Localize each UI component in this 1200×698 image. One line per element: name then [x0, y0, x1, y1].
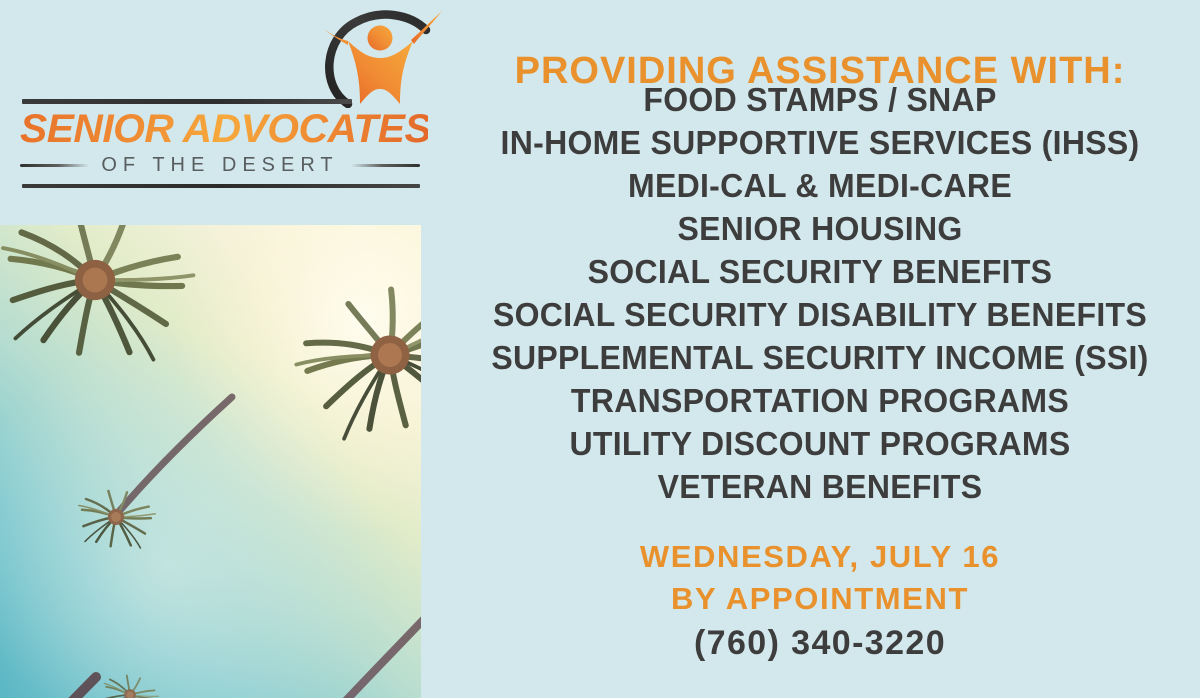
list-item: VETERAN BENEFITS: [451, 465, 1188, 508]
event-details: WEDNESDAY, JULY 16 BY APPOINTMENT (760) …: [440, 536, 1200, 664]
logo-subtitle: OF THE DESERT: [101, 154, 338, 177]
appointment-note: BY APPOINTMENT: [440, 578, 1200, 620]
logo-subtitle-left-line: [20, 164, 89, 167]
services-list: FOOD STAMPS / SNAP IN-HOME SUPPORTIVE SE…: [440, 78, 1200, 508]
event-date: WEDNESDAY, JULY 16: [440, 536, 1200, 578]
list-item: FOOD STAMPS / SNAP: [451, 78, 1188, 121]
person-raised-arms-icon: [318, 8, 448, 108]
logo-subtitle-right-line: [351, 164, 420, 167]
list-item: SENIOR HOUSING: [451, 207, 1188, 250]
left-column: SENIOR ADVOCATES OF THE DESERT: [0, 0, 440, 698]
list-item: IN-HOME SUPPORTIVE SERVICES (IHSS): [451, 121, 1188, 164]
list-item: TRANSPORTATION PROGRAMS: [451, 379, 1188, 422]
palm-trees-photo: [0, 225, 421, 698]
flyer-poster: SENIOR ADVOCATES OF THE DESERT: [0, 0, 1200, 698]
list-item: MEDI-CAL & MEDI-CARE: [451, 164, 1188, 207]
list-item: SOCIAL SECURITY DISABILITY BENEFITS: [451, 293, 1188, 336]
organization-logo: SENIOR ADVOCATES OF THE DESERT: [0, 0, 440, 210]
logo-wordmark: SENIOR ADVOCATES: [20, 108, 428, 150]
logo-top-rule: [22, 99, 352, 104]
list-item: SUPPLEMENTAL SECURITY INCOME (SSI): [451, 336, 1188, 379]
logo-bottom-rule: [22, 184, 420, 188]
logo-subtitle-row: OF THE DESERT: [20, 152, 420, 178]
content-column: PROVIDING ASSISTANCE WITH: FOOD STAMPS /…: [440, 0, 1200, 698]
list-item: UTILITY DISCOUNT PROGRAMS: [451, 422, 1188, 465]
list-item: SOCIAL SECURITY BENEFITS: [451, 250, 1188, 293]
phone-number: (760) 340-3220: [440, 622, 1200, 664]
